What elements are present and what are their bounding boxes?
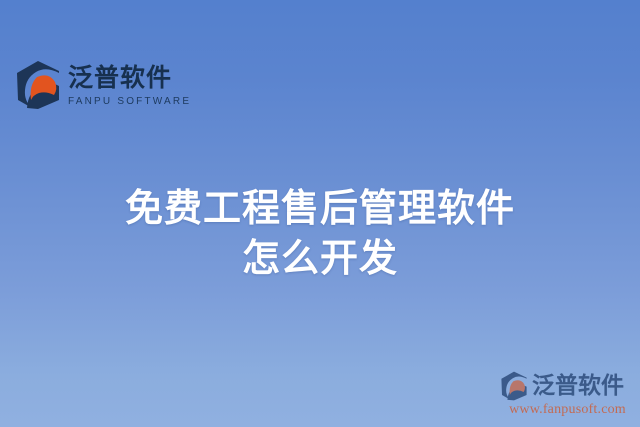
watermark-url: www.fanpusoft.com (500, 402, 635, 417)
headline-line-1: 免费工程售后管理软件 (0, 183, 640, 233)
brand-name-cn: 泛普软件 (68, 64, 191, 92)
brand-wordmark: 泛普软件 FANPU SOFTWARE (68, 62, 191, 109)
brand-logo: 泛普软件 FANPU SOFTWARE (16, 60, 191, 110)
headline-line-2: 怎么开发 (0, 233, 640, 283)
watermark-name-cn: 泛普软件 (532, 374, 624, 398)
headline: 免费工程售后管理软件 怎么开发 (0, 183, 640, 283)
fanpu-logo-icon (500, 371, 528, 401)
watermark: 泛普软件 www.fanpusoft.com (500, 371, 635, 417)
watermark-logo-row: 泛普软件 (500, 371, 635, 401)
fanpu-logo-icon (16, 60, 60, 110)
banner-image: 泛普软件 FANPU SOFTWARE 免费工程售后管理软件 怎么开发 泛普软件… (0, 0, 640, 427)
brand-name-en: FANPU SOFTWARE (68, 94, 191, 109)
